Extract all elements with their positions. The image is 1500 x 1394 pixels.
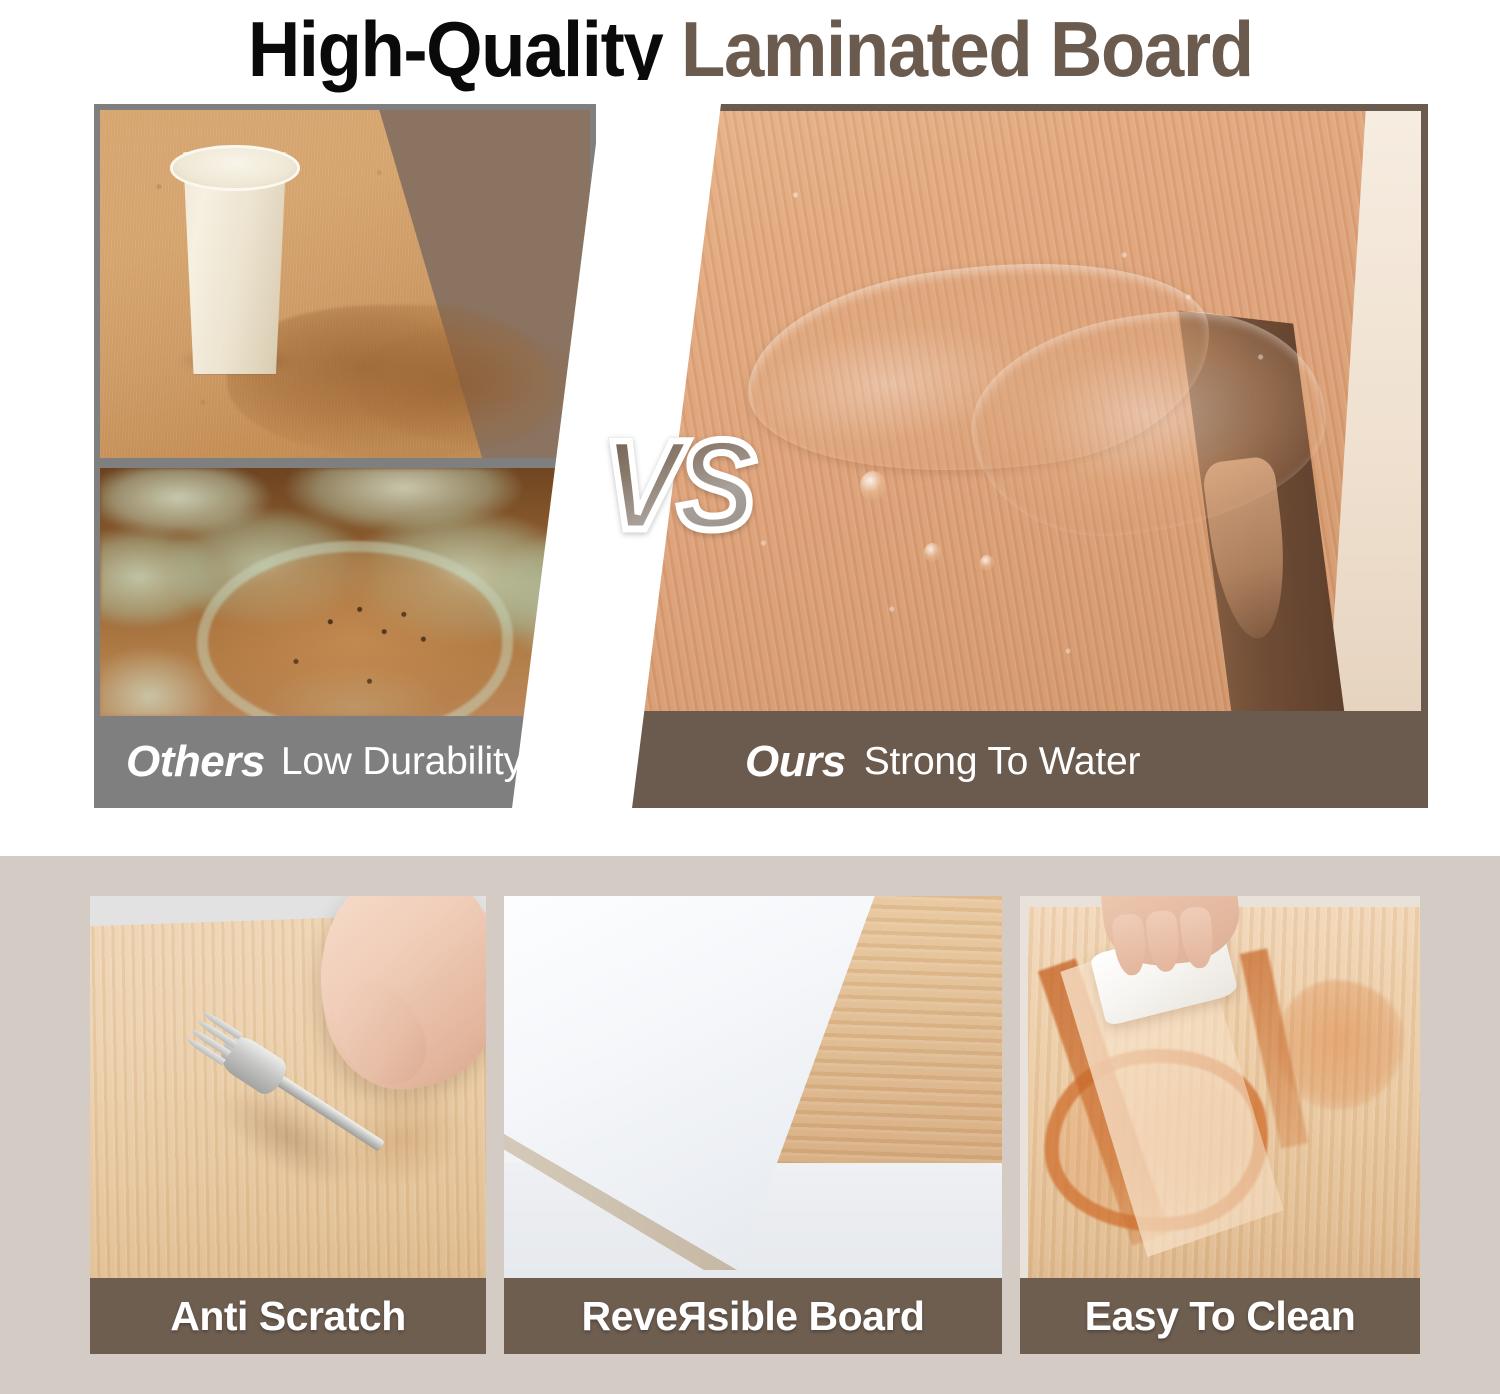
comparison-section: Others Low Durability Ours Strong To Wat…: [0, 100, 1500, 822]
label-flipped-r: R: [678, 1293, 707, 1340]
paper-cup-rim: [170, 145, 300, 190]
white-and-wood-board-sides-photo: [504, 896, 1002, 1278]
feature-label-anti-scratch: Anti Scratch: [90, 1278, 486, 1354]
feature-card-anti-scratch: Anti Scratch: [90, 896, 486, 1354]
label-part-pre: Reve: [582, 1293, 678, 1340]
others-claim-label: Low Durability: [281, 740, 523, 784]
feature-label-reversible-board: ReveRsible Board: [504, 1278, 1002, 1354]
features-section: Anti Scratch ReveRsible Board: [0, 856, 1500, 1394]
mold-on-damp-particleboard-photo: [100, 468, 590, 716]
feature-label-easy-to-clean: Easy To Clean: [1020, 1278, 1420, 1354]
spilled-drink-on-particleboard-photo: [100, 110, 590, 458]
comparison-panel-others: Others Low Durability: [94, 104, 596, 808]
features-row: Anti Scratch ReveRsible Board: [90, 896, 1420, 1354]
ours-claim-label: Strong To Water: [864, 740, 1141, 784]
title-part-1: High-Quality: [248, 5, 662, 93]
ours-brand-label: Ours: [745, 737, 846, 787]
label-part-post: sible Board: [707, 1293, 925, 1340]
fork-scratching-board-photo: [90, 896, 486, 1278]
water-beading-on-laminated-board-photo: [619, 111, 1421, 711]
water-mist-specks: [619, 111, 1421, 711]
vs-badge: VS: [603, 422, 753, 550]
page-title: High-Quality Laminated Board: [0, 0, 1500, 98]
feature-card-easy-to-clean: Easy To Clean: [1020, 896, 1420, 1354]
title-part-2: Laminated Board: [681, 5, 1253, 93]
wiping-sauce-off-board-photo: [1020, 896, 1420, 1278]
mold-spores: [100, 468, 590, 716]
ours-label-bar: Ours Strong To Water: [619, 716, 1421, 808]
feature-card-reversible-board: ReveRsible Board: [504, 896, 1002, 1354]
others-brand-label: Others: [126, 737, 265, 787]
title-text: High-Quality Laminated Board: [248, 4, 1253, 95]
